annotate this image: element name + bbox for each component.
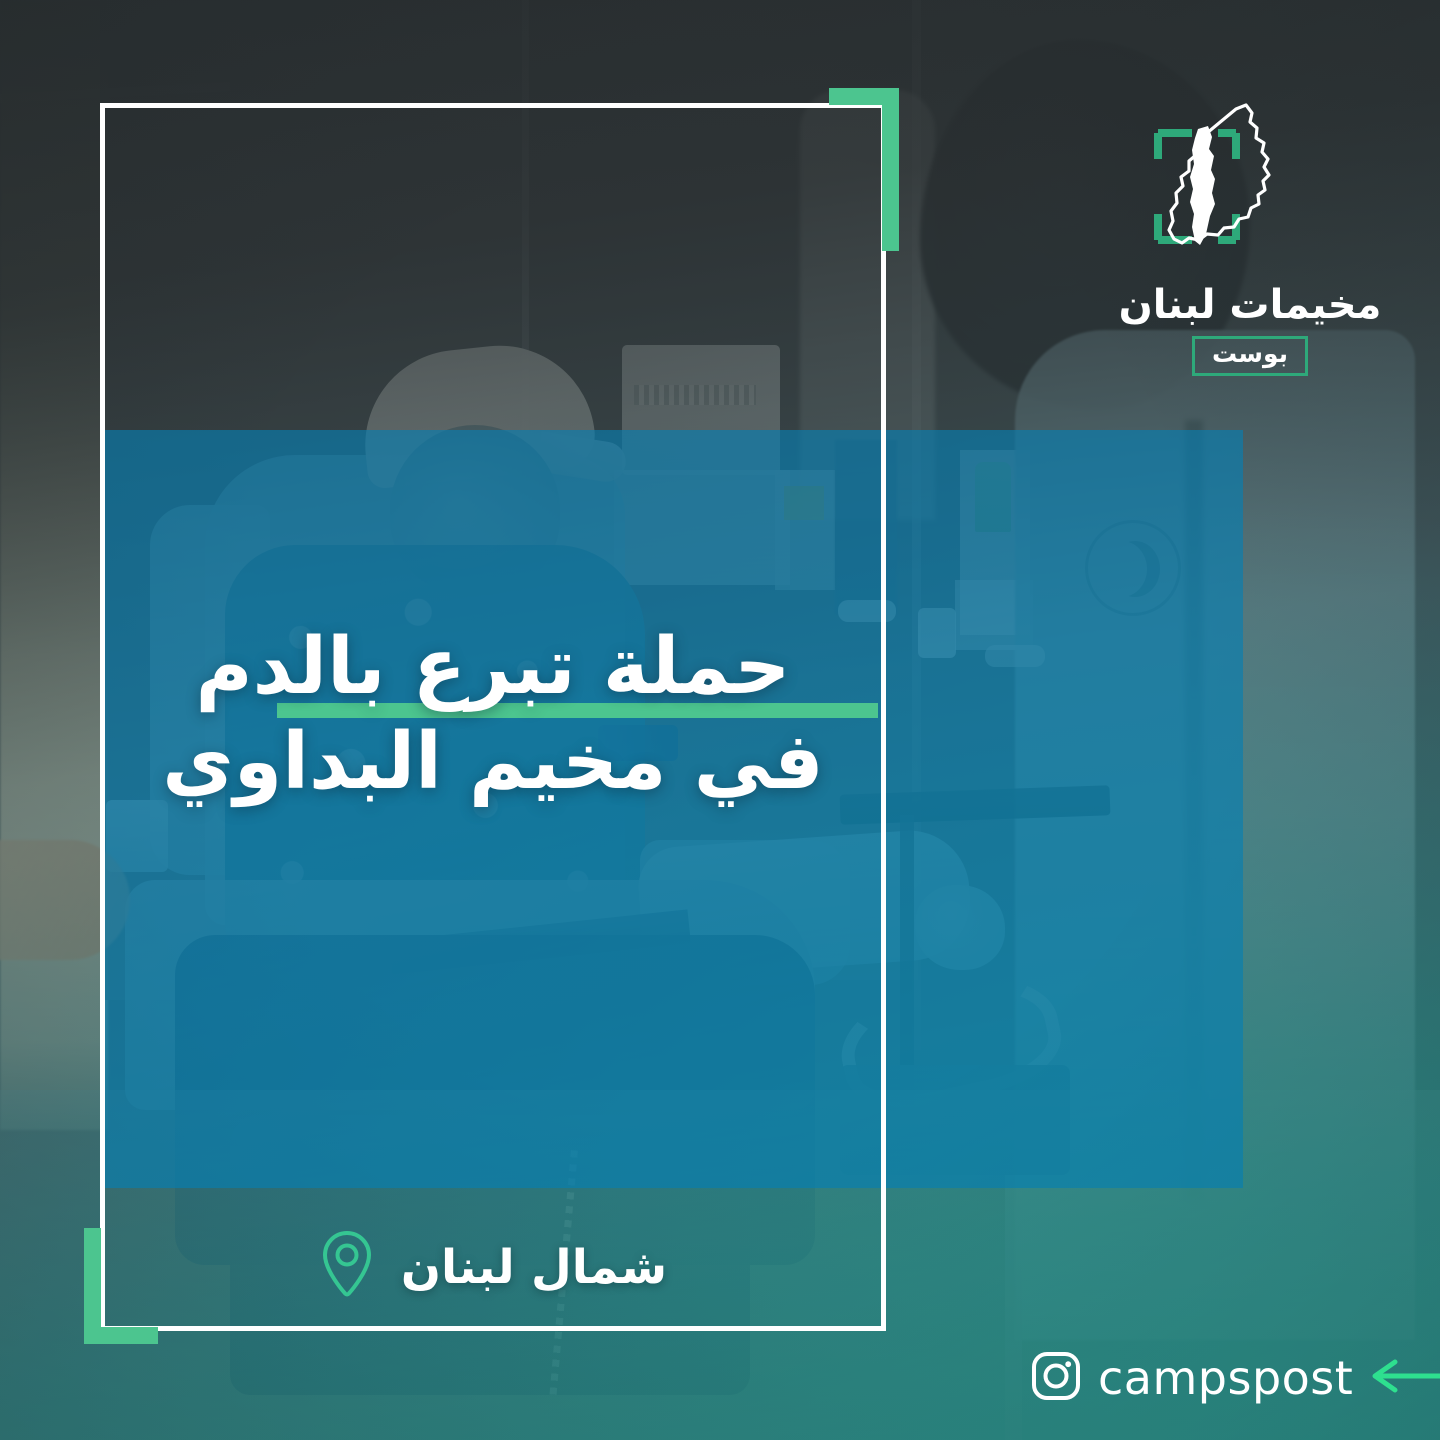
- brand-name: مخيمات لبنان: [1100, 283, 1400, 327]
- map-pin-icon: [319, 1229, 375, 1305]
- headline-line-2: في مخيم البداوي: [100, 715, 886, 810]
- brand-suffix-wrap: بوست: [1100, 336, 1400, 376]
- green-corner-bracket-top-right: [829, 88, 899, 251]
- instagram-handle-text: campspost: [1098, 1351, 1353, 1405]
- location-caption: شمال لبنان: [100, 1218, 886, 1316]
- brand-logo: مخيمات لبنان بوست: [1100, 95, 1400, 376]
- arrow-left-icon: [1369, 1356, 1440, 1400]
- brand-suffix: بوست: [1192, 336, 1308, 376]
- instagram-icon: [1030, 1350, 1082, 1406]
- poster-canvas: حملة تبرع بالدم في مخيم البداوي شمال لبن…: [0, 0, 1440, 1440]
- location-label: شمال لبنان: [401, 1240, 667, 1295]
- social-handle[interactable]: campspost: [1030, 1350, 1440, 1406]
- headline-line-1: حملة تبرع بالدم: [100, 620, 886, 715]
- lebanon-palestine-map-icon: [1100, 95, 1400, 275]
